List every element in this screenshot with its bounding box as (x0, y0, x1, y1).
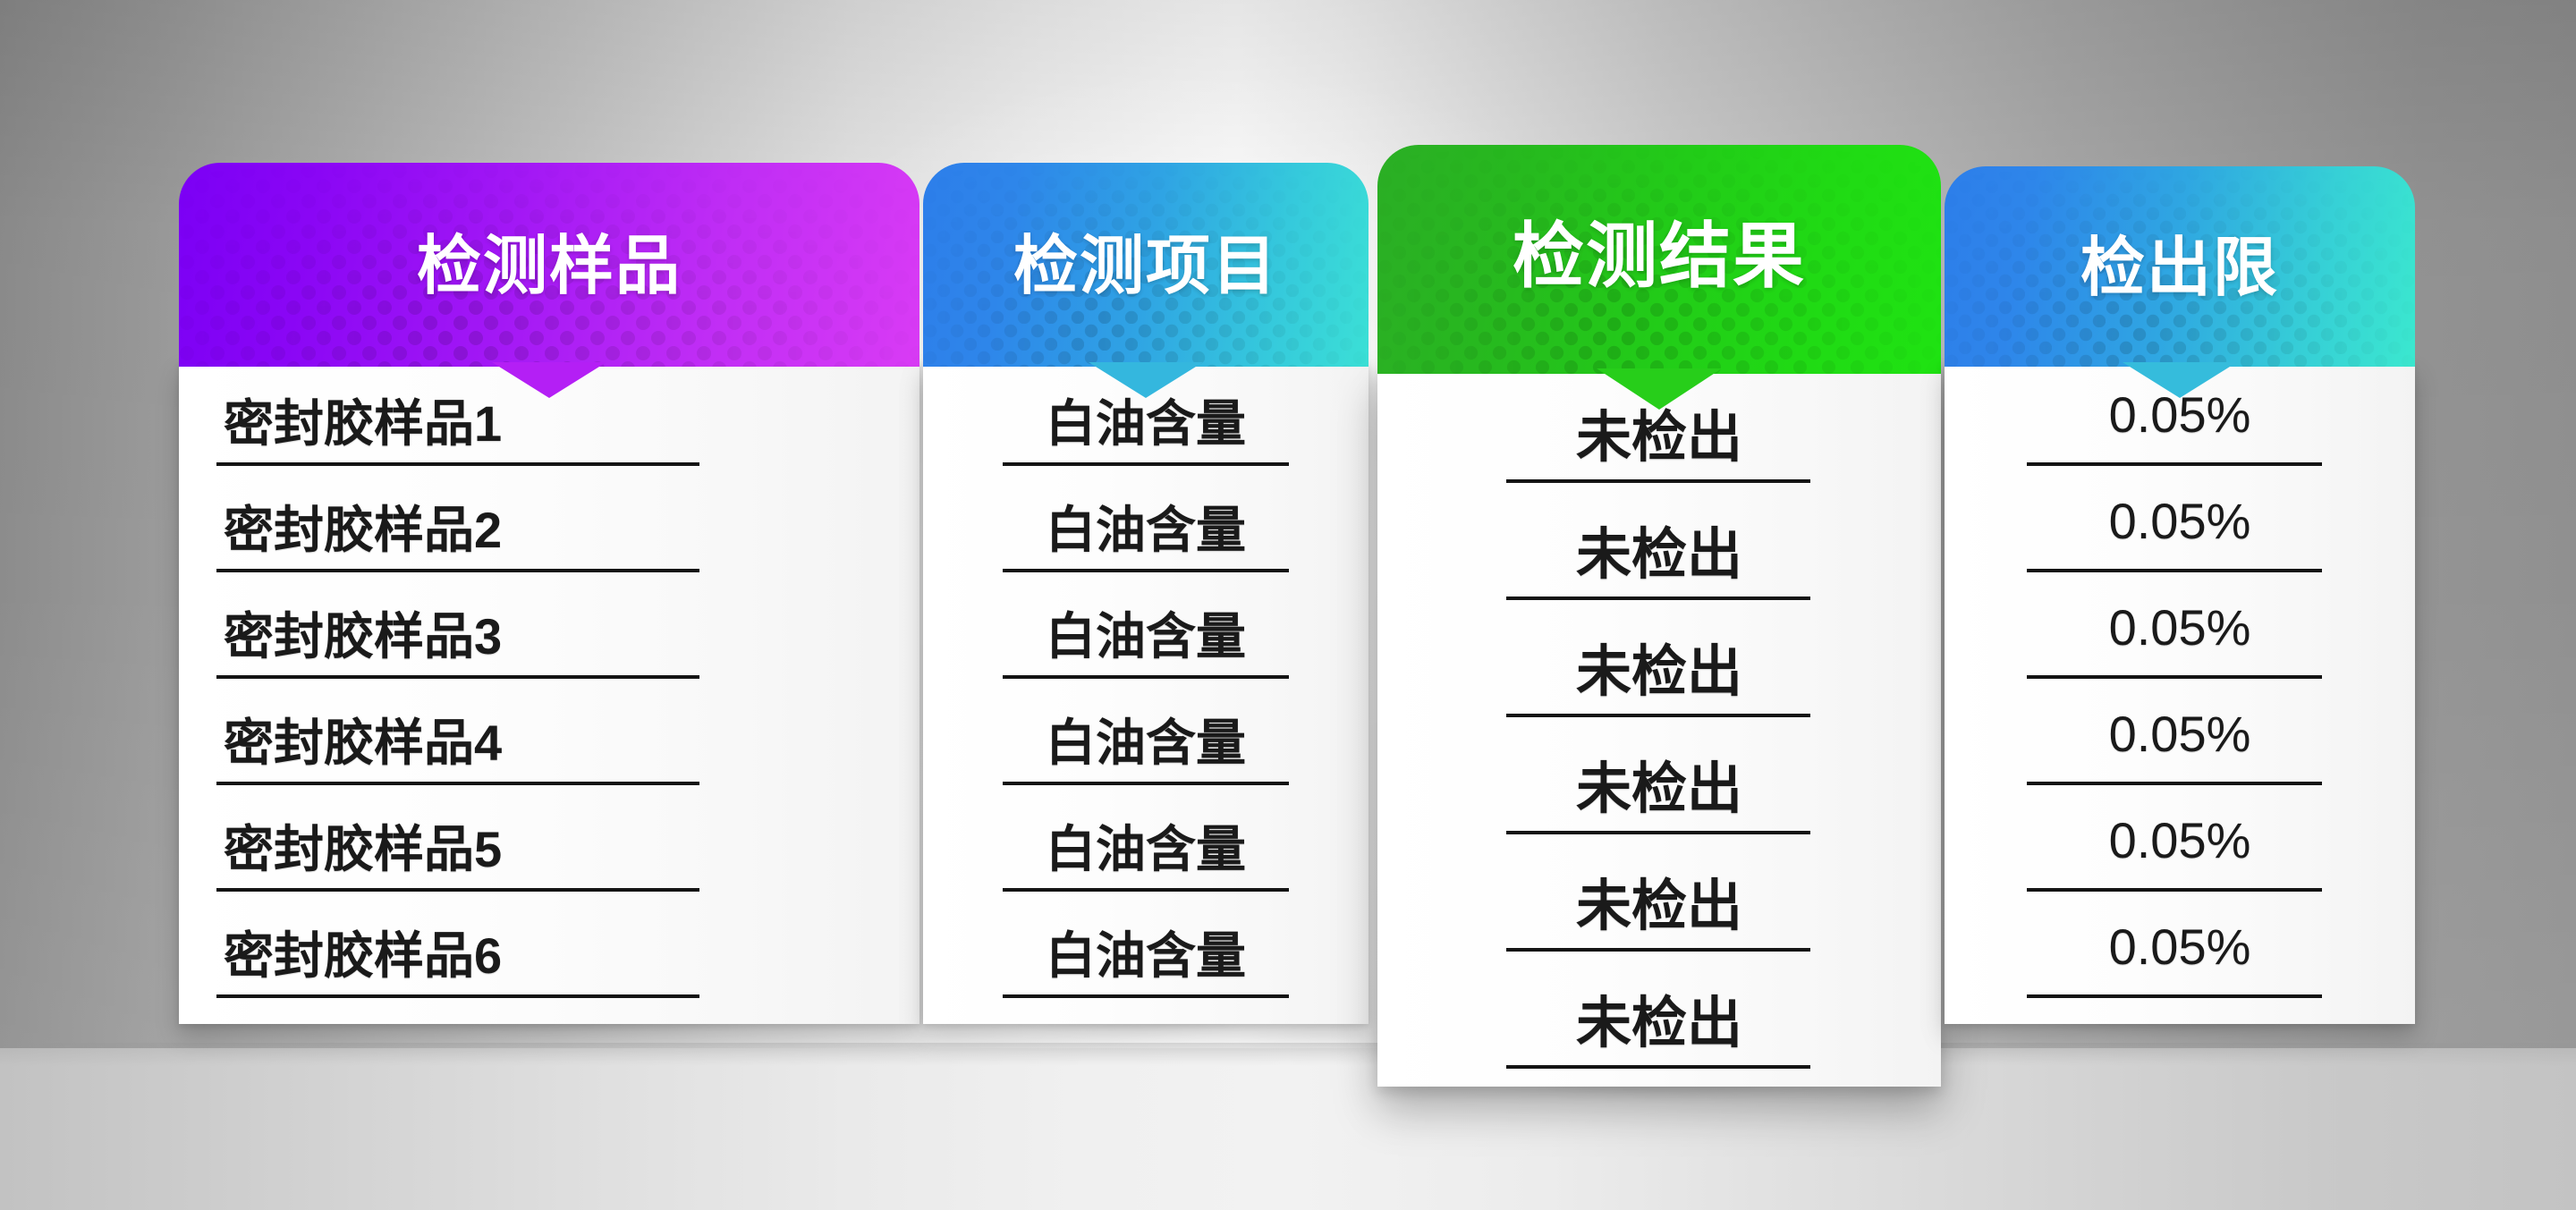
cell-item-3: 白油含量 (923, 597, 1368, 669)
cell-item-2: 白油含量 (923, 490, 1368, 563)
table-row[interactable]: 0.05% (1945, 575, 2415, 681)
cell-result-6: 未检出 (1377, 977, 1941, 1058)
table-row[interactable]: 0.05% (1945, 362, 2415, 469)
table-row[interactable]: 密封胶样品2 (179, 469, 919, 575)
table-row[interactable]: 密封胶样品1 (179, 362, 919, 469)
card-item-header: 检测项目 (923, 163, 1368, 367)
table-row[interactable]: 0.05% (1945, 788, 2415, 894)
row-rule (2027, 569, 2322, 572)
table-row[interactable]: 密封胶样品4 (179, 681, 919, 788)
card-result-title: 检测结果 (1377, 199, 1941, 302)
row-rule (2027, 888, 2322, 892)
card-item-rows: 白油含量 白油含量 白油含量 白油含量 白油含量 白油含量 (923, 362, 1368, 1001)
row-rule (1506, 597, 1810, 600)
row-rule (1003, 675, 1289, 679)
row-rule (2027, 782, 2322, 785)
cell-sample-5: 密封胶样品5 (224, 809, 919, 882)
cell-limit-6: 0.05% (1945, 918, 2415, 976)
table-row[interactable]: 密封胶样品6 (179, 894, 919, 1001)
card-result-rows: 未检出 未检出 未检出 未检出 未检出 未检出 (1377, 368, 1941, 1071)
row-rule (1003, 462, 1289, 466)
row-rule (2027, 994, 2322, 998)
table-row[interactable]: 未检出 (1377, 837, 1941, 954)
table-row[interactable]: 白油含量 (923, 362, 1368, 469)
cell-limit-3: 0.05% (1945, 598, 2415, 656)
card-limit-header: 检出限 (1945, 166, 2415, 367)
card-limit-rows: 0.05% 0.05% 0.05% 0.05% 0.05% 0.05% (1945, 362, 2415, 1001)
table-row[interactable]: 白油含量 (923, 469, 1368, 575)
table-row[interactable]: 未检出 (1377, 486, 1941, 603)
row-rule (1003, 569, 1289, 572)
table-row[interactable]: 白油含量 (923, 894, 1368, 1001)
card-result: 检测结果 未检出 未检出 未检出 未检出 (1377, 145, 1941, 1087)
cell-limit-1: 0.05% (1945, 385, 2415, 444)
row-rule (216, 888, 699, 892)
cell-item-4: 白油含量 (923, 703, 1368, 775)
row-rule (1506, 714, 1810, 717)
row-rule (216, 675, 699, 679)
row-rule (216, 994, 699, 998)
table-row[interactable]: 0.05% (1945, 681, 2415, 788)
cell-sample-6: 密封胶样品6 (224, 916, 919, 988)
row-rule (1003, 888, 1289, 892)
cell-limit-5: 0.05% (1945, 811, 2415, 869)
card-sample: 检测样品 密封胶样品1 密封胶样品2 密封胶样品3 密封胶样品4 (179, 163, 919, 1024)
row-rule (1506, 1065, 1810, 1069)
row-rule (1506, 948, 1810, 952)
row-rule (1003, 994, 1289, 998)
table-row[interactable]: 密封胶样品3 (179, 575, 919, 681)
cell-sample-4: 密封胶样品4 (224, 703, 919, 775)
row-rule (216, 462, 699, 466)
row-rule (216, 569, 699, 572)
table-row[interactable]: 未检出 (1377, 603, 1941, 720)
cell-result-5: 未检出 (1377, 860, 1941, 941)
row-rule (2027, 675, 2322, 679)
cell-result-2: 未检出 (1377, 509, 1941, 589)
cell-sample-3: 密封胶样品3 (224, 597, 919, 669)
table-row[interactable]: 白油含量 (923, 575, 1368, 681)
table-row[interactable]: 密封胶样品5 (179, 788, 919, 894)
card-result-header: 检测结果 (1377, 145, 1941, 374)
cell-item-6: 白油含量 (923, 916, 1368, 988)
comparison-table: 检测样品 密封胶样品1 密封胶样品2 密封胶样品3 密封胶样品4 (0, 0, 2576, 1210)
card-item-title: 检测项目 (923, 213, 1368, 307)
card-sample-header: 检测样品 (179, 163, 919, 367)
table-row[interactable]: 未检出 (1377, 954, 1941, 1071)
card-sample-rows: 密封胶样品1 密封胶样品2 密封胶样品3 密封胶样品4 密封胶样品5 密封胶样品… (179, 362, 919, 1001)
table-row[interactable]: 未检出 (1377, 720, 1941, 837)
cell-item-1: 白油含量 (923, 384, 1368, 456)
table-row[interactable]: 白油含量 (923, 681, 1368, 788)
cell-limit-2: 0.05% (1945, 492, 2415, 550)
table-row[interactable]: 0.05% (1945, 894, 2415, 1001)
row-rule (1003, 782, 1289, 785)
cell-limit-4: 0.05% (1945, 705, 2415, 763)
row-rule (216, 782, 699, 785)
cell-sample-1: 密封胶样品1 (224, 384, 919, 456)
cell-result-3: 未检出 (1377, 626, 1941, 707)
row-rule (1506, 479, 1810, 483)
card-sample-title: 检测样品 (179, 213, 919, 307)
card-limit: 检出限 0.05% 0.05% 0.05% 0.05% (1945, 166, 2415, 1024)
table-row[interactable]: 0.05% (1945, 469, 2415, 575)
cell-result-4: 未检出 (1377, 743, 1941, 824)
row-rule (1506, 831, 1810, 834)
card-limit-title: 检出限 (1945, 215, 2415, 309)
table-row[interactable]: 未检出 (1377, 368, 1941, 486)
cell-item-5: 白油含量 (923, 809, 1368, 882)
table-row[interactable]: 白油含量 (923, 788, 1368, 894)
row-rule (2027, 462, 2322, 466)
cell-sample-2: 密封胶样品2 (224, 490, 919, 563)
cell-result-1: 未检出 (1377, 392, 1941, 472)
card-item: 检测项目 白油含量 白油含量 白油含量 白油含量 (923, 163, 1368, 1024)
